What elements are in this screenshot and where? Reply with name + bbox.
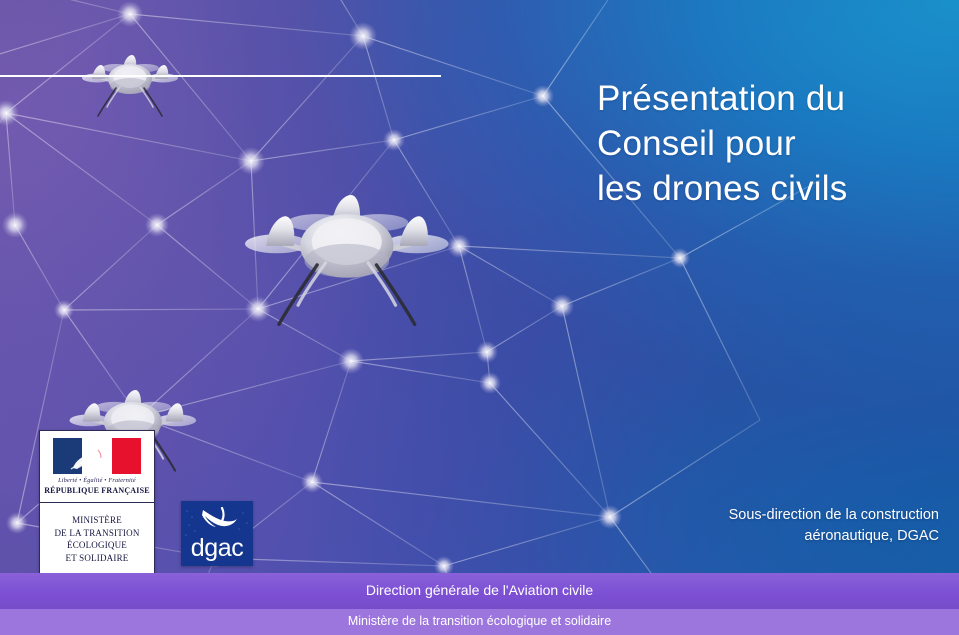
ministry-line-3: ÉCOLOGIQUE xyxy=(67,539,127,552)
footer-bar-dgac-label: Direction générale de l'Aviation civile xyxy=(0,582,959,598)
presentation-slide: Présentation du Conseil pour les drones … xyxy=(0,0,959,635)
ministry-line-1: MINISTÈRE xyxy=(72,514,122,527)
logo-republique-top: Liberté • Égalité • Fraternité RÉPUBLIQU… xyxy=(40,431,154,503)
logo-republique-francaise: Liberté • Égalité • Fraternité RÉPUBLIQU… xyxy=(39,430,155,575)
title-rule xyxy=(0,75,441,77)
subtitle: Sous-direction de la construction aérona… xyxy=(729,505,939,547)
ministry-line-2: DE LA TRANSITION xyxy=(54,527,139,540)
subtitle-line-2: aéronautique, DGAC xyxy=(729,526,939,547)
footer-bar-ministry-label: Ministère de la transition écologique et… xyxy=(0,614,959,628)
title-line-3: les drones civils xyxy=(597,166,957,211)
swift-bird-icon xyxy=(199,506,239,532)
french-flag-marianne-icon xyxy=(53,438,141,474)
page-title: Présentation du Conseil pour les drones … xyxy=(597,76,957,211)
subtitle-line-1: Sous-direction de la construction xyxy=(729,505,939,526)
logo-dgac: dgac xyxy=(181,501,253,566)
dgac-wordmark: dgac xyxy=(181,535,253,562)
title-line-1: Présentation du xyxy=(597,76,957,121)
ministry-line-4: ET SOLIDAIRE xyxy=(66,552,129,565)
title-line-2: Conseil pour xyxy=(597,121,957,166)
logo-devise: Liberté • Égalité • Fraternité xyxy=(40,477,154,484)
logo-republic-name: RÉPUBLIQUE FRANÇAISE xyxy=(40,486,154,495)
logo-ministry-block: MINISTÈRE DE LA TRANSITION ÉCOLOGIQUE ET… xyxy=(40,503,154,575)
footer-bar-ministry: Ministère de la transition écologique et… xyxy=(0,609,959,635)
footer-bar-dgac: Direction générale de l'Aviation civile xyxy=(0,573,959,609)
